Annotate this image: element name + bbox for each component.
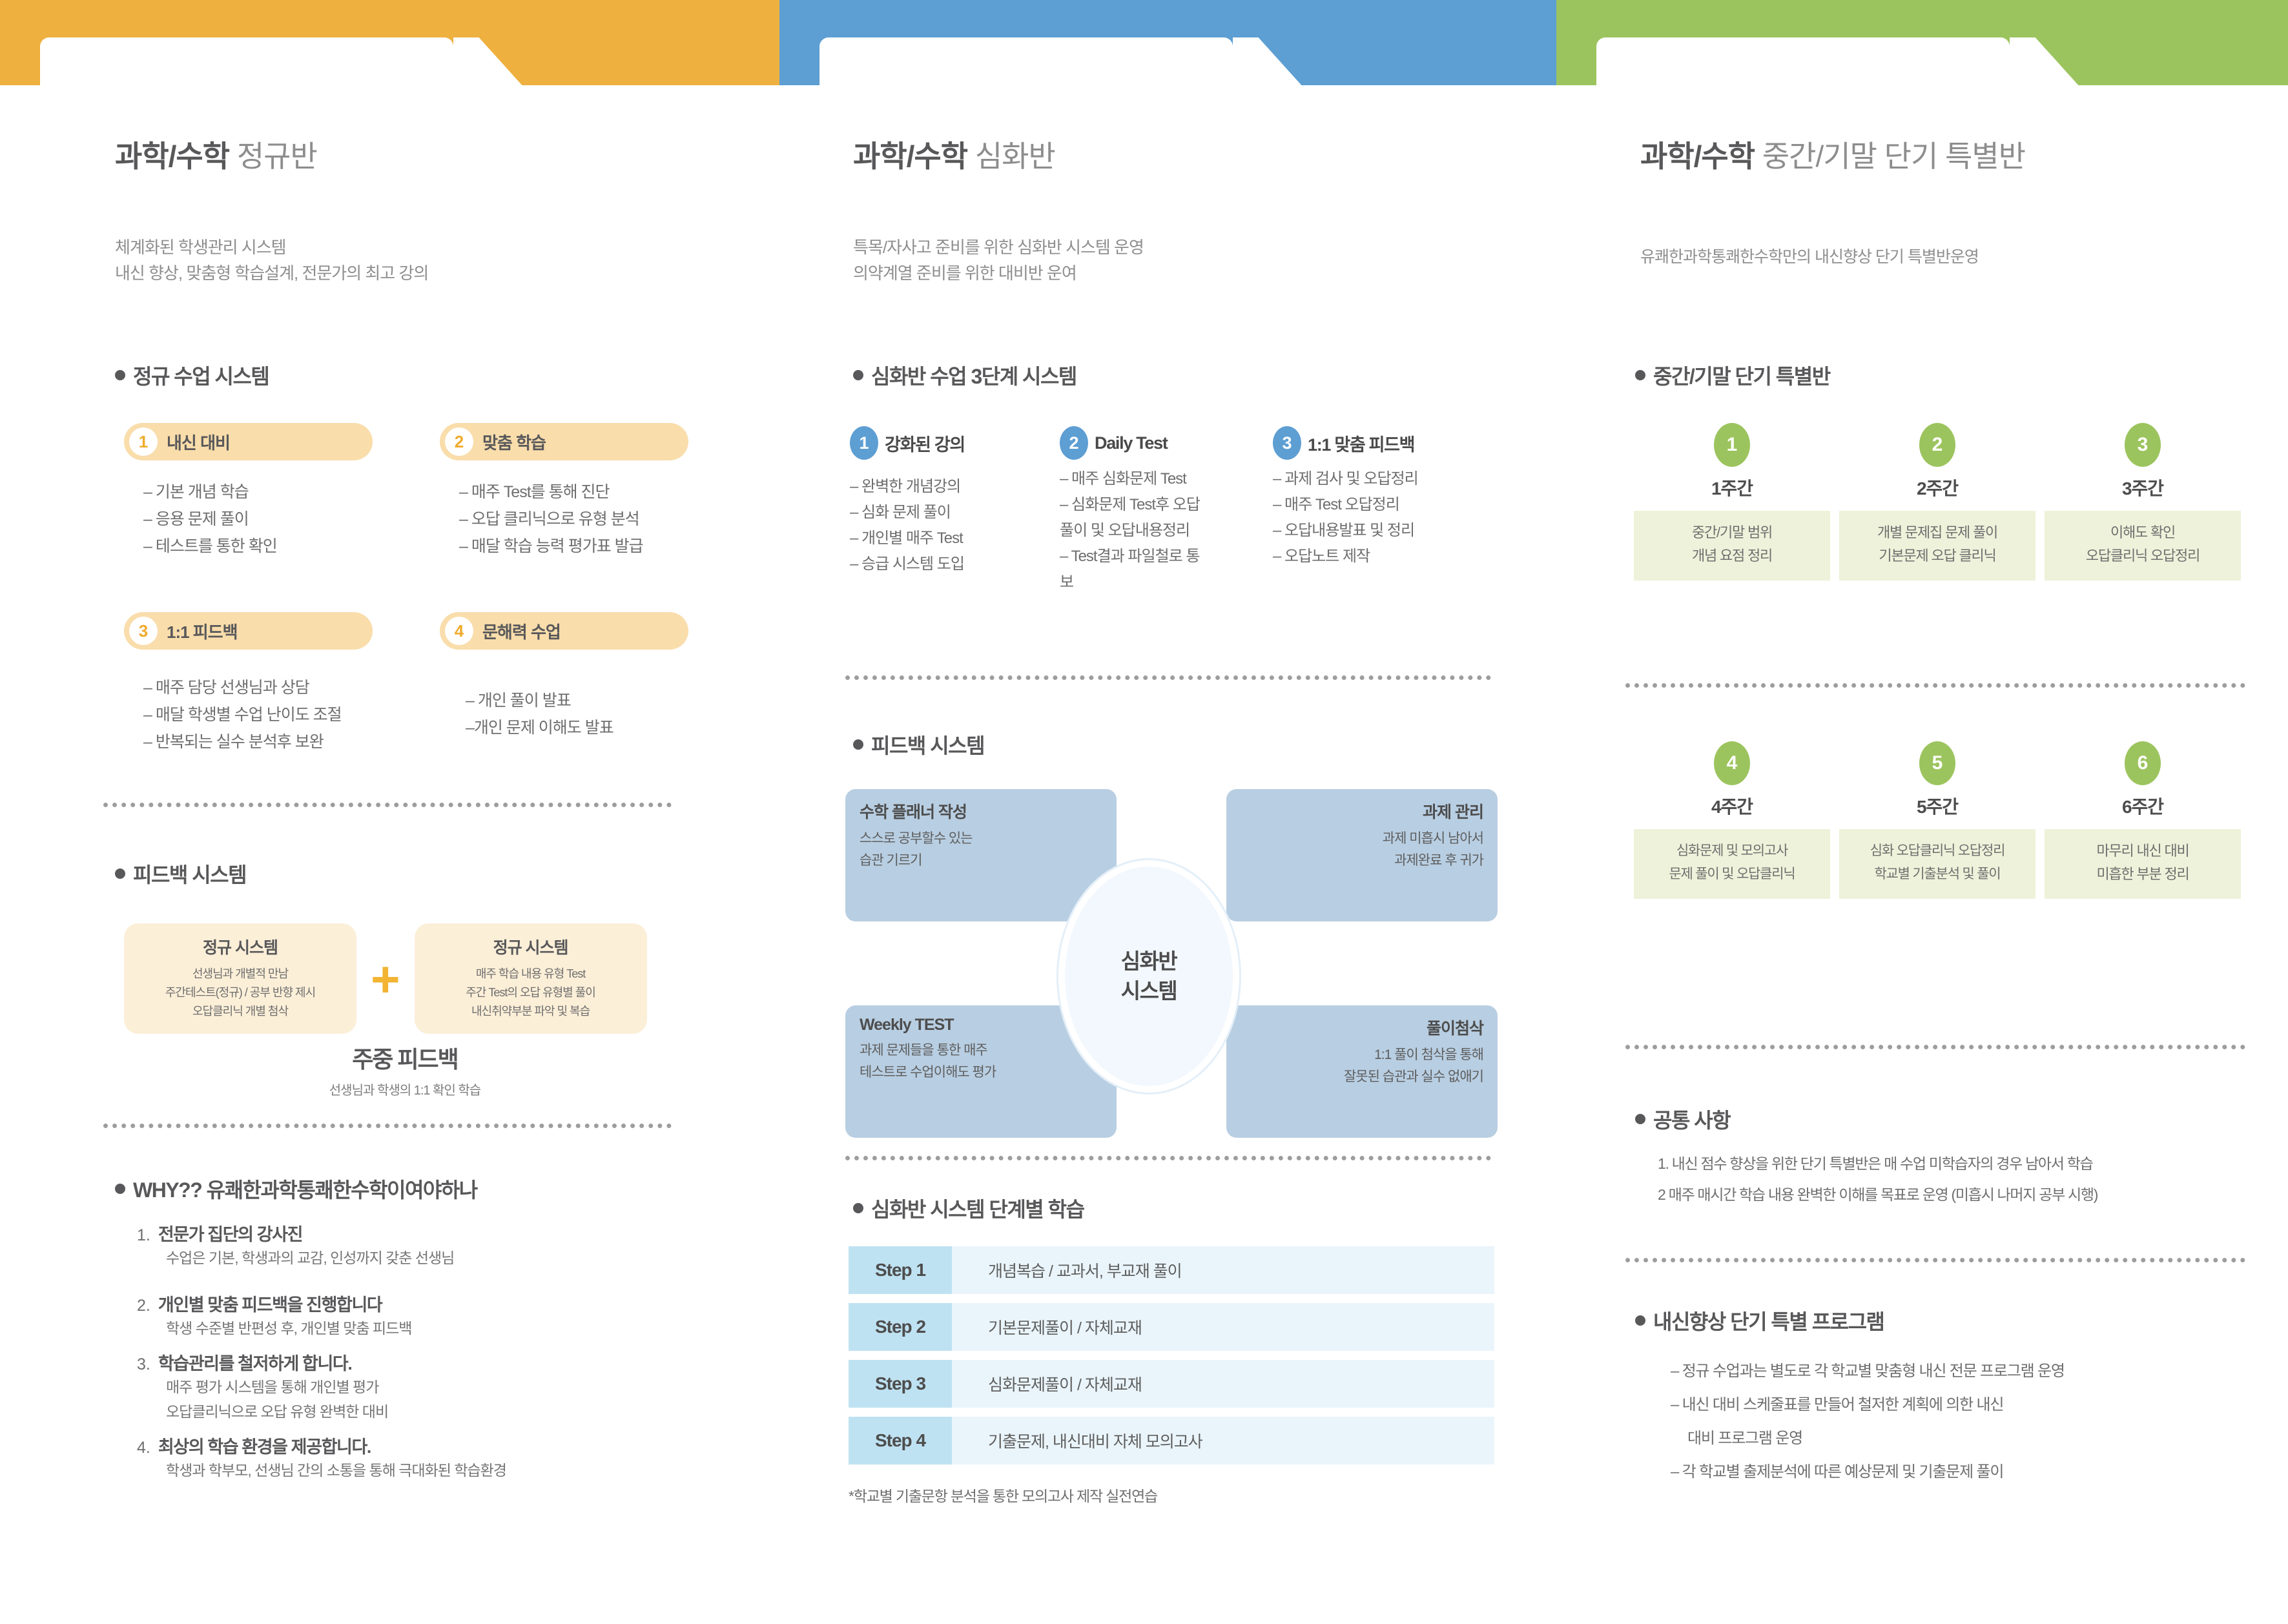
feedback-quad-weekly-test-line-1: 과제 문제들을 통한 매주 — [860, 1040, 1102, 1062]
column-1-section-1-heading: 정규 수업 시스템 — [115, 360, 763, 390]
week-card-2[interactable]: 2 2주간 개별 문제집 문제 풀이 기본문제 오답 클리닉 — [1839, 423, 2035, 581]
regular-card-1-bullet-3: – 테스트를 통한 확인 — [143, 533, 373, 560]
advanced-step-1[interactable]: 1 강화된 강의 — [850, 426, 1069, 460]
column-2-divider-2 — [845, 1156, 1491, 1160]
week-card-1-body: 중간/기말 범위 개념 요점 정리 — [1634, 511, 1830, 581]
common-item-2: 2 매주 매시간 학습 내용 완벽한 이해를 목표로 운영 (미흡시 나머지 공… — [1658, 1179, 2288, 1210]
week-card-3-body: 이해도 확인 오답클리닉 오답정리 — [2045, 511, 2241, 581]
bullet-dot-icon — [853, 1203, 863, 1213]
regular-card-4-bullets: – 개인 풀이 발표 –개인 문제 이해도 발표 — [440, 687, 688, 741]
column-2-subtitle-line-2: 의약계열 준비를 위한 대비반 운여 — [853, 260, 1525, 286]
week-card-2-line-1: 개별 문제집 문제 풀이 — [1844, 521, 2030, 544]
advanced-step-1-bullet-4: – 승급 시스템 도입 — [850, 551, 1069, 577]
column-3-section-1-heading-text: 중간/기말 단기 특별반 — [1653, 360, 1830, 390]
week-card-3-label: 3주간 — [2045, 475, 2241, 500]
column-3-section-2-heading: 공통 사항 — [1635, 1104, 2288, 1134]
regular-card-2-number: 2 — [445, 427, 473, 456]
learning-step-row-3-body: 심화문제풀이 / 자체교재 — [952, 1360, 1494, 1408]
week-card-4-body: 심화문제 및 모의고사 문제 풀이 및 오답클리닉 — [1634, 829, 1830, 899]
regular-card-3-number: 3 — [129, 617, 158, 645]
week-card-4-line-1: 심화문제 및 모의고사 — [1639, 839, 1825, 863]
learning-step-row-1-body: 개념복습 / 교과서, 부교재 풀이 — [952, 1246, 1494, 1294]
column-3-title: 과학/수학 중간/기말 단기 특별반 — [1640, 133, 2288, 176]
feedback-box-right-line-2: 주간 Test의 오답 유형별 풀이 — [421, 983, 641, 1002]
program-item-2: – 내신 대비 스케줄표를 만들어 철저한 계획에 의한 내신 — [1671, 1388, 2288, 1422]
column-2-section-2-heading-text: 피드백 시스템 — [871, 730, 984, 759]
advanced-step-3-label: 1:1 맞춤 피드백 — [1308, 431, 1414, 456]
learning-step-row-1-tag: Step 1 — [849, 1246, 952, 1294]
week-card-6-number: 6 — [2125, 741, 2161, 785]
column-1-subtitle-line-2: 내신 향상, 맞춤형 학습설계, 전문가의 최고 강의 — [115, 260, 763, 286]
advanced-step-3-bullet-1: – 과제 검사 및 오답정리 — [1273, 466, 1486, 492]
week-card-1-line-2: 개념 요점 정리 — [1639, 544, 1825, 568]
feedback-quad-planner-line-1: 스스로 공부할수 있는 — [860, 828, 1102, 850]
regular-card-1[interactable]: 1 내신 대비 — [124, 423, 373, 460]
regular-card-2-label: 맞춤 학습 — [482, 430, 546, 454]
week-card-6-line-2: 미흡한 부분 정리 — [2050, 863, 2236, 886]
advanced-step-2-bullet-4: – Test결과 파일철로 통 — [1060, 544, 1266, 570]
week-card-3-line-1: 이해도 확인 — [2050, 521, 2236, 544]
advanced-step-1-bullet-1: – 완벽한 개념강의 — [850, 474, 1069, 500]
why-item-4: 4. 최상의 학습 환경을 제공합니다. — [137, 1433, 718, 1458]
week-card-4-line-2: 문제 풀이 및 오답클리닉 — [1639, 863, 1825, 886]
advanced-step-3-bullets: – 과제 검사 및 오답정리 – 매주 Test 오답정리 – 오답내용발표 및… — [1273, 466, 1486, 570]
program-item-1: – 정규 수업과는 별도로 각 학교별 맞춤형 내신 전문 프로그램 운영 — [1671, 1355, 2288, 1388]
column-short-term-class: 과학/수학 중간/기말 단기 특별반 유쾌한과학통쾌한수학만의 내신향상 단기 … — [1525, 0, 2288, 1624]
feedback-quad-homework-title: 과제 관리 — [1241, 799, 1483, 823]
regular-card-1-number: 1 — [129, 427, 158, 456]
regular-card-3-bullet-2: – 매달 학생별 수업 난이도 조절 — [143, 701, 373, 728]
column-3-section-3-heading-text: 내신향상 단기 특별 프로그램 — [1653, 1306, 1884, 1335]
regular-card-3-label: 1:1 피드백 — [167, 619, 238, 643]
advanced-step-1-bullet-3: – 개인별 매주 Test — [850, 526, 1069, 551]
why-item-2-desc-1: 학생 수준별 반편성 후, 개인별 맞춤 피드백 — [137, 1316, 718, 1341]
advanced-step-2-bullet-3: 풀이 및 오답내용정리 — [1060, 518, 1266, 544]
advanced-step-3[interactable]: 3 1:1 맞춤 피드백 — [1273, 426, 1486, 460]
advanced-step-1-number: 1 — [850, 426, 878, 460]
regular-card-1-bullet-2: – 응용 문제 풀이 — [143, 506, 373, 533]
advanced-step-2-bullet-5: 보 — [1060, 570, 1266, 595]
column-3-section-1-heading: 중간/기말 단기 특별반 — [1635, 360, 2288, 390]
column-1-section-3-heading: WHY?? 유쾌한과학통쾌한수학이여야하나 — [115, 1174, 763, 1204]
column-3-divider-3 — [1625, 1258, 2245, 1262]
regular-card-3-bullet-1: – 매주 담당 선생님과 상담 — [143, 674, 373, 701]
column-2-subtitle-line-1: 특목/자사고 준비를 위한 심화반 시스템 운영 — [853, 234, 1525, 260]
column-2-title-light: 심화반 — [975, 139, 1055, 173]
regular-card-1-label: 내신 대비 — [167, 430, 230, 454]
week-card-3-line-2: 오답클리닉 오답정리 — [2050, 544, 2236, 568]
column-1-section-3-heading-text: WHY?? 유쾌한과학통쾌한수학이여야하나 — [133, 1174, 477, 1204]
regular-card-2-bullet-2: – 오답 클리닉으로 유형 분석 — [459, 506, 688, 533]
feedback-box-left-line-3: 오답클리닉 개별 첨삭 — [130, 1002, 350, 1021]
week-card-5-line-2: 학교별 기출분석 및 풀이 — [1844, 863, 2030, 886]
regular-card-3-bullet-3: – 반복되는 실수 분석후 보완 — [143, 728, 373, 755]
weekday-feedback-subtitle: 선생님과 학생의 1:1 확인 학습 — [124, 1080, 686, 1098]
column-1-section-1-heading-text: 정규 수업 시스템 — [133, 360, 269, 390]
feedback-box-left-line-1: 선생님과 개별적 만남 — [130, 965, 350, 983]
regular-card-1-bullets: – 기본 개념 학습 – 응용 문제 풀이 – 테스트를 통한 확인 — [124, 478, 373, 560]
learning-step-note: *학교별 기출문항 분석을 통한 모의고사 제작 실전연습 — [849, 1484, 1494, 1506]
feedback-quad-correction-line-2: 잘못된 습관과 실수 없애기 — [1241, 1066, 1483, 1088]
regular-card-4-bullet-2: –개인 문제 이해도 발표 — [466, 714, 688, 741]
regular-card-2[interactable]: 2 맞춤 학습 — [440, 423, 688, 460]
week-card-6-line-1: 마무리 내신 대비 — [2050, 839, 2236, 863]
feedback-quad-correction-line-1: 1:1 풀이 첨삭을 통해 — [1241, 1044, 1483, 1066]
feedback-quad-homework-line-2: 과제완료 후 귀가 — [1241, 850, 1483, 872]
column-1-title: 과학/수학 정규반 — [115, 133, 763, 176]
brochure-page: 과학/수학 정규반 체계화된 학생관리 시스템 내신 향상, 맞춤형 학습설계,… — [0, 0, 2288, 1624]
learning-step-row-4-tag: Step 4 — [849, 1417, 952, 1465]
week-card-1-number: 1 — [1714, 423, 1750, 467]
advanced-step-1-label: 강화된 강의 — [885, 431, 965, 456]
why-item-3-title: 학습관리를 철저하게 합니다. — [158, 1350, 352, 1375]
feedback-quad-homework-line-1: 과제 미흡시 남아서 — [1241, 828, 1483, 850]
program-item-3: 대비 프로그램 운영 — [1671, 1422, 2288, 1455]
week-card-1-line-1: 중간/기말 범위 — [1639, 521, 1825, 544]
learning-step-row-1: Step 1 개념복습 / 교과서, 부교재 풀이 — [849, 1246, 1494, 1294]
why-item-3: 3. 학습관리를 철저하게 합니다. — [137, 1350, 718, 1375]
feedback-center-label-2: 시스템 — [1121, 976, 1177, 1006]
bullet-dot-icon — [115, 370, 125, 380]
column-3-divider-2 — [1625, 1045, 2245, 1049]
column-3-divider-1 — [1625, 683, 2245, 688]
bullet-dot-icon — [1635, 1114, 1645, 1124]
column-2-section-3-heading: 심화반 시스템 단계별 학습 — [853, 1193, 1525, 1223]
column-2-divider-1 — [845, 675, 1491, 680]
feedback-quad-weekly-test-line-2: 테스트로 수업이해도 평가 — [860, 1062, 1102, 1084]
week-card-5[interactable]: 5 5주간 심화 오답클리닉 오답정리 학교별 기출분석 및 풀이 — [1839, 741, 2035, 899]
column-1-divider-1 — [103, 803, 672, 807]
column-2-title-bold: 과학/수학 — [853, 139, 967, 173]
regular-card-4-bullet-1: – 개인 풀이 발표 — [466, 687, 688, 714]
feedback-quad-planner-title: 수학 플래너 작성 — [860, 799, 1102, 823]
column-2-section-1-heading: 심화반 수업 3단계 시스템 — [853, 360, 1525, 390]
regular-card-2-bullet-3: – 매달 학습 능력 평가표 발급 — [459, 533, 688, 560]
regular-card-4-number: 4 — [445, 617, 473, 645]
advanced-step-1-bullet-2: – 심화 문제 풀이 — [850, 500, 1069, 526]
learning-step-row-2-body: 기본문제풀이 / 자체교재 — [952, 1303, 1494, 1351]
weekday-feedback-title: 주중 피드백 — [124, 1041, 686, 1074]
learning-step-row-2-tag: Step 2 — [849, 1303, 952, 1351]
column-1-subtitle-line-1: 체계화된 학생관리 시스템 — [115, 234, 763, 260]
why-item-1-title: 전문가 집단의 강사진 — [158, 1220, 302, 1246]
advanced-step-2-bullet-2: – 심화문제 Test후 오답 — [1060, 492, 1266, 518]
learning-step-row-3-tag: Step 3 — [849, 1360, 952, 1408]
bullet-dot-icon — [1635, 370, 1645, 380]
column-1-title-light: 정규반 — [237, 139, 317, 173]
bullet-dot-icon — [853, 370, 863, 380]
feedback-center-label-1: 심화반 — [1121, 947, 1177, 976]
week-card-2-number: 2 — [1919, 423, 1955, 467]
column-3-section-2-heading-text: 공통 사항 — [1653, 1104, 1730, 1134]
advanced-step-1-bullets: – 완벽한 개념강의 – 심화 문제 풀이 – 개인별 매주 Test – 승급… — [850, 474, 1069, 577]
column-regular-class: 과학/수학 정규반 체계화된 학생관리 시스템 내신 향상, 맞춤형 학습설계,… — [0, 0, 763, 1624]
week-card-5-line-1: 심화 오답클리닉 오답정리 — [1844, 839, 2030, 863]
feedback-box-right-title: 정규 시스템 — [421, 935, 641, 958]
advanced-step-3-bullet-3: – 오답내용발표 및 정리 — [1273, 518, 1486, 544]
week-card-5-label: 5주간 — [1839, 793, 2035, 819]
column-2-section-2-heading: 피드백 시스템 — [853, 730, 1525, 759]
feedback-box-left-title: 정규 시스템 — [130, 935, 350, 958]
learning-step-row-4-body: 기출문제, 내신대비 자체 모의고사 — [952, 1417, 1494, 1465]
why-item-3-number: 3. — [137, 1355, 150, 1374]
advanced-step-2-number: 2 — [1060, 426, 1088, 460]
column-1-title-bold: 과학/수학 — [115, 139, 229, 173]
regular-card-4-label: 문해력 수업 — [482, 619, 561, 643]
column-3-title-light: 중간/기말 단기 특별반 — [1762, 139, 2025, 173]
feedback-quad-homework: 과제 관리 과제 미흡시 남아서 과제완료 후 귀가 — [1226, 789, 1498, 921]
regular-card-2-bullets: – 매주 Test를 통해 진단 – 오답 클리닉으로 유형 분석 – 매달 학… — [440, 478, 688, 560]
why-item-1: 1. 전문가 집단의 강사진 — [137, 1220, 718, 1246]
week-card-3[interactable]: 3 3주간 이해도 확인 오답클리닉 오답정리 — [2045, 423, 2241, 581]
learning-step-row-3: Step 3 심화문제풀이 / 자체교재 — [849, 1360, 1494, 1408]
feedback-quad-correction-title: 풀이첨삭 — [1241, 1016, 1483, 1039]
feedback-quad-planner: 수학 플래너 작성 스스로 공부할수 있는 습관 기르기 — [845, 789, 1117, 921]
plus-icon: + — [371, 954, 400, 1004]
learning-step-row-2: Step 2 기본문제풀이 / 자체교재 — [849, 1303, 1494, 1351]
advanced-step-3-bullet-4: – 오답노트 제작 — [1273, 544, 1486, 570]
bullet-dot-icon — [1635, 1315, 1645, 1326]
feedback-box-right-line-3: 내신취약부분 파악 및 복습 — [421, 1002, 641, 1021]
why-item-4-title: 최상의 학습 환경을 제공합니다. — [158, 1433, 371, 1458]
advanced-step-2-label: Daily Test — [1095, 433, 1168, 453]
why-item-1-number: 1. — [137, 1226, 150, 1245]
why-item-4-number: 4. — [137, 1439, 150, 1457]
regular-card-3-bullets: – 매주 담당 선생님과 상담 – 매달 학생별 수업 난이도 조절 – 반복되… — [124, 674, 373, 755]
week-card-6-label: 6주간 — [2045, 793, 2241, 819]
why-item-3-desc-2: 오답클리닉으로 오답 유형 완벽한 대비 — [137, 1399, 718, 1424]
bullet-dot-icon — [853, 739, 863, 750]
column-2-section-3-heading-text: 심화반 시스템 단계별 학습 — [871, 1193, 1084, 1223]
week-card-2-body: 개별 문제집 문제 풀이 기본문제 오답 클리닉 — [1839, 511, 2035, 581]
column-3-section-3-heading: 내신향상 단기 특별 프로그램 — [1635, 1306, 2288, 1335]
column-1-section-2-heading-text: 피드백 시스템 — [133, 859, 246, 889]
week-card-1-label: 1주간 — [1634, 475, 1830, 500]
advanced-step-3-number: 3 — [1273, 426, 1301, 460]
feedback-center-oval: 심화반 시스템 — [1058, 860, 1239, 1093]
regular-card-1-bullet-1: – 기본 개념 학습 — [143, 478, 373, 506]
feedback-quad-planner-line-2: 습관 기르기 — [860, 850, 1102, 872]
column-advanced-class: 과학/수학 심화반 특목/자사고 준비를 위한 심화반 시스템 운영 의약계열 … — [763, 0, 1525, 1624]
week-card-6-body: 마무리 내신 대비 미흡한 부분 정리 — [2045, 829, 2241, 899]
feedback-box-right-line-1: 매주 학습 내용 유형 Test — [421, 965, 641, 983]
column-1-divider-2 — [103, 1124, 672, 1128]
week-card-2-line-2: 기본문제 오답 클리닉 — [1844, 544, 2030, 568]
week-card-4-label: 4주간 — [1634, 793, 1830, 819]
advanced-step-2-bullet-1: – 매주 심화문제 Test — [1060, 466, 1266, 492]
bullet-dot-icon — [115, 1184, 125, 1194]
feedback-box-right: 정규 시스템 매주 학습 내용 유형 Test 주간 Test의 오답 유형별 … — [415, 923, 647, 1034]
feedback-box-left-line-2: 주간테스트(정규) / 공부 반향 제시 — [130, 983, 350, 1002]
why-item-3-desc-1: 매주 평가 시스템을 통해 개인별 평가 — [137, 1375, 718, 1399]
regular-card-3[interactable]: 3 1:1 피드백 — [124, 612, 373, 650]
week-card-1[interactable]: 1 1주간 중간/기말 범위 개념 요점 정리 — [1634, 423, 1830, 581]
week-card-6[interactable]: 6 6주간 마무리 내신 대비 미흡한 부분 정리 — [2045, 741, 2241, 899]
feedback-quad-correction: 풀이첨삭 1:1 풀이 첨삭을 통해 잘못된 습관과 실수 없애기 — [1226, 1005, 1498, 1138]
week-card-5-number: 5 — [1919, 741, 1955, 785]
why-item-4-desc-1: 학생과 학부모, 선생님 간의 소통을 통해 극대화된 학습환경 — [137, 1458, 718, 1483]
column-2-section-1-heading-text: 심화반 수업 3단계 시스템 — [871, 360, 1077, 390]
week-card-3-number: 3 — [2125, 423, 2161, 467]
week-card-5-body: 심화 오답클리닉 오답정리 학교별 기출분석 및 풀이 — [1839, 829, 2035, 899]
advanced-step-3-bullet-2: – 매주 Test 오답정리 — [1273, 492, 1486, 518]
program-item-4: – 각 학교별 출제분석에 따른 예상문제 및 기출문제 풀이 — [1671, 1455, 2288, 1489]
week-card-2-label: 2주간 — [1839, 475, 2035, 500]
regular-card-4[interactable]: 4 문해력 수업 — [440, 612, 688, 650]
column-1-section-2-heading: 피드백 시스템 — [115, 859, 763, 889]
week-card-4-number: 4 — [1714, 741, 1750, 785]
column-2-title: 과학/수학 심화반 — [853, 133, 1525, 176]
why-item-2: 2. 개인별 맞춤 피드백을 진행합니다 — [137, 1291, 718, 1316]
why-item-2-title: 개인별 맞춤 피드백을 진행합니다 — [158, 1291, 382, 1316]
column-3-title-bold: 과학/수학 — [1640, 139, 1755, 173]
feedback-box-left: 정규 시스템 선생님과 개별적 만남 주간테스트(정규) / 공부 반향 제시 … — [124, 923, 356, 1034]
advanced-step-2-bullets: – 매주 심화문제 Test – 심화문제 Test후 오답 풀이 및 오답내용… — [1060, 466, 1266, 595]
bullet-dot-icon — [115, 869, 125, 879]
common-item-1: 1. 내신 점수 향상을 위한 단기 특별반은 매 수업 미학습자의 경우 남아… — [1658, 1148, 2288, 1179]
regular-card-2-bullet-1: – 매주 Test를 통해 진단 — [459, 478, 688, 506]
week-card-4[interactable]: 4 4주간 심화문제 및 모의고사 문제 풀이 및 오답클리닉 — [1634, 741, 1830, 899]
advanced-step-2[interactable]: 2 Daily Test — [1060, 426, 1266, 460]
column-3-subtitle-line-1: 유쾌한과학통쾌한수학만의 내신향상 단기 특별반운영 — [1640, 244, 2288, 270]
learning-step-row-4: Step 4 기출문제, 내신대비 자체 모의고사 — [849, 1417, 1494, 1465]
why-item-2-number: 2. — [137, 1297, 150, 1315]
why-item-1-desc-1: 수업은 기본, 학생과의 교감, 인성까지 갖춘 선생님 — [137, 1246, 718, 1270]
